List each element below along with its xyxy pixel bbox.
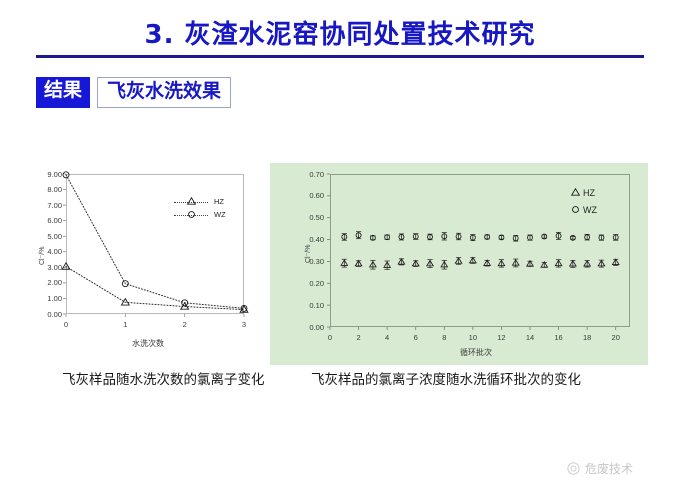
- left-series-wz: [63, 172, 247, 312]
- left-y-tick: 3.00: [32, 263, 62, 272]
- watermark: 危废技术: [566, 460, 633, 477]
- right-x-tick: 20: [607, 333, 625, 342]
- badge-row: 结果 飞灰水洗效果: [36, 77, 231, 108]
- right-x-tick: 6: [407, 333, 425, 342]
- right-series-wz: [342, 232, 619, 241]
- right-x-tick: 16: [550, 333, 568, 342]
- left-y-tick: 0.00: [32, 310, 62, 319]
- right-legend-label-hz: HZ: [583, 188, 595, 198]
- right-y-tick: 0.60: [292, 191, 324, 200]
- right-x-axis-label: 循环批次: [460, 347, 492, 358]
- right-y-tick: 0.70: [292, 170, 324, 179]
- left-x-tick: 2: [177, 320, 193, 329]
- page-title: 3. 灰渣水泥窑协同处置技术研究: [0, 14, 680, 51]
- left-y-axis-label: Cl⁻/%: [38, 247, 46, 265]
- right-x-tick: 18: [578, 333, 596, 342]
- right-x-tick: 10: [464, 333, 482, 342]
- right-x-tick: 8: [435, 333, 453, 342]
- right-legend-label-wz: WZ: [583, 205, 597, 215]
- left-x-tick: 0: [58, 320, 74, 329]
- left-y-tick: 4.00: [32, 247, 62, 256]
- right-series-hz: [341, 257, 619, 269]
- circle-marker-icon: [570, 204, 581, 215]
- caption-left: 飞灰样品随水洗次数的氯离子变化: [62, 368, 265, 388]
- triangle-marker-icon: [570, 187, 581, 198]
- left-legend-label-hz: HZ: [214, 197, 224, 206]
- left-y-tick: 1.00: [32, 294, 62, 303]
- right-y-axis-label: Cl⁻/%: [304, 245, 312, 263]
- left-y-tick: 2.00: [32, 278, 62, 287]
- badge-subtitle: 飞灰水洗效果: [97, 77, 231, 108]
- left-y-tick: 6.00: [32, 216, 62, 225]
- left-y-tick: 5.00: [32, 232, 62, 241]
- left-x-tick: 3: [236, 320, 252, 329]
- right-y-tick: 0.20: [292, 279, 324, 288]
- right-x-tick: 4: [378, 333, 396, 342]
- right-y-tick: 0.50: [292, 213, 324, 222]
- left-y-tick: 9.00: [32, 170, 62, 179]
- chart-left: 0.001.002.003.004.005.006.007.008.009.00…: [24, 168, 264, 363]
- watermark-text: 危废技术: [585, 460, 633, 477]
- left-y-tick: 7.00: [32, 201, 62, 210]
- caption-right: 飞灰样品的氯离子浓度随水洗循环批次的变化: [311, 368, 581, 388]
- left-x-tick: 1: [117, 320, 133, 329]
- left-y-tick: 8.00: [32, 185, 62, 194]
- right-x-tick: 2: [350, 333, 368, 342]
- chart-right: 0.000.100.200.300.400.500.600.7002468101…: [270, 163, 648, 365]
- right-x-tick: 12: [492, 333, 510, 342]
- left-x-axis-label: 水洗次数: [132, 338, 164, 349]
- slide-canvas: 3. 灰渣水泥窑协同处置技术研究 结果 飞灰水洗效果 0.001.002.003…: [0, 0, 680, 487]
- circle-marker-icon: [186, 209, 197, 220]
- left-legend-label-wz: WZ: [214, 210, 226, 219]
- title-divider: [36, 55, 644, 58]
- triangle-marker-icon: [186, 196, 197, 207]
- right-y-tick: 0.40: [292, 235, 324, 244]
- right-x-tick: 0: [321, 333, 339, 342]
- right-x-tick: 14: [521, 333, 539, 342]
- camera-logo-icon: [566, 461, 581, 476]
- badge-result: 结果: [36, 77, 90, 108]
- right-y-tick: 0.00: [292, 323, 324, 332]
- right-y-tick: 0.10: [292, 301, 324, 310]
